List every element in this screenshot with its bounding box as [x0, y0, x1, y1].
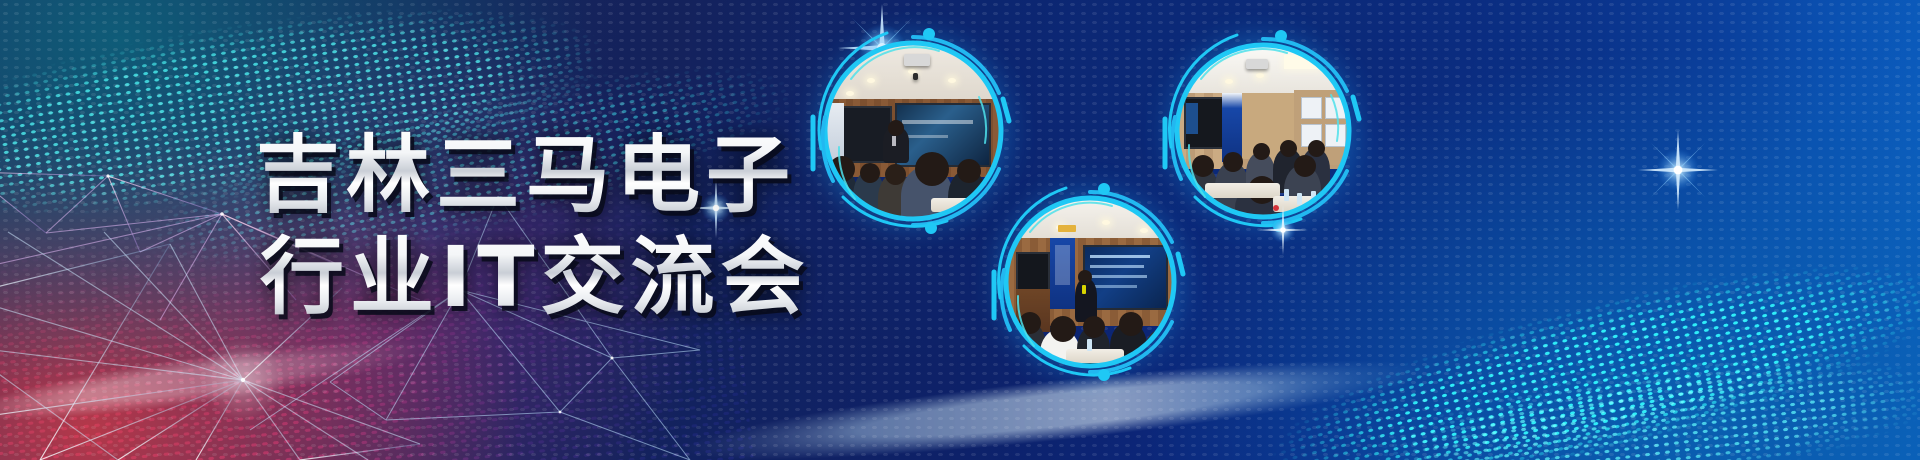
headline-line-1: 吉林三马电子: [256, 124, 811, 226]
banner-headline: 吉林三马电子 行业IT交流会: [256, 124, 811, 328]
photo-circle-speaker-microphone[interactable]: [980, 172, 1200, 392]
headline-line-2: 行业IT交流会: [256, 226, 811, 328]
event-banner: 吉林三马电子 行业IT交流会: [0, 0, 1920, 460]
photo-ring-decoration: [980, 172, 1200, 392]
